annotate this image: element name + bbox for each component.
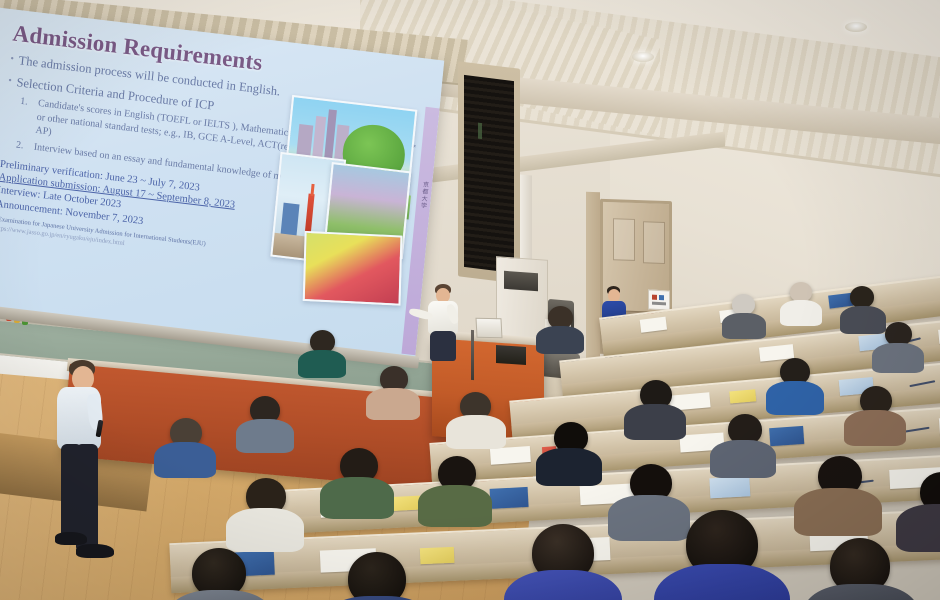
ac-vent-grille [504, 271, 538, 291]
photo-autumn-foliage [303, 231, 403, 306]
downlight-icon [845, 22, 867, 32]
ac-duct-pole [520, 174, 532, 265]
audience-body [154, 442, 216, 478]
audience-body [226, 508, 304, 552]
bullet-dot-icon: • [10, 51, 15, 67]
audience-head-foreground [348, 552, 406, 600]
notes [729, 389, 756, 403]
audience-body [896, 504, 940, 552]
audience-head [850, 286, 874, 308]
audience-body [366, 388, 420, 420]
audience-body [840, 306, 886, 334]
list-item-number: 1. [17, 95, 32, 137]
audience-seating [130, 352, 940, 600]
lecture-hall-scene: FIRE Admission Requirements • The admiss… [0, 0, 940, 600]
audience-body [624, 404, 686, 440]
screen-surface: Admission Requirements • The admission p… [0, 8, 444, 360]
notes [390, 496, 421, 512]
projection-screen: Admission Requirements • The admission p… [0, 0, 453, 384]
audience-body-foreground [804, 584, 918, 600]
shoe-right [76, 544, 114, 558]
audience-body [780, 300, 822, 326]
brochure [769, 426, 804, 446]
audience-body [446, 415, 506, 449]
audience-head [732, 294, 755, 315]
audience-body [608, 495, 690, 541]
door-panel-upper [613, 218, 635, 261]
downlight-icon [632, 52, 654, 62]
brochure [709, 476, 750, 498]
audience-body [236, 419, 294, 453]
brochure [490, 487, 529, 509]
handout [640, 317, 667, 333]
audience-body [418, 485, 492, 527]
audience-body [844, 410, 906, 446]
list-item-number: 2. [15, 138, 27, 153]
slide-photo-collage [267, 94, 418, 309]
slide-side-band-text: 京都大学 [418, 181, 430, 210]
laptop[interactable] [475, 318, 502, 339]
audience-body [766, 381, 824, 415]
shoe-left [55, 532, 87, 545]
audience-body [722, 313, 766, 339]
wall-notice-sign [648, 289, 670, 310]
audience-body [298, 350, 346, 378]
window-blinds [464, 75, 514, 273]
audience-body [872, 343, 924, 373]
pen [909, 380, 935, 387]
audience-body [536, 448, 602, 486]
bullet-dot-icon: • [7, 73, 12, 89]
audience-head [790, 282, 812, 302]
audience-body-foreground [322, 596, 434, 600]
audience-body [710, 440, 776, 478]
notes [420, 547, 455, 564]
door-panel-upper-right [643, 221, 665, 264]
slide-content: Admission Requirements • The admission p… [0, 8, 444, 360]
audience-body [794, 488, 882, 536]
presenter-with-microphone [52, 360, 132, 592]
audience-body [536, 326, 584, 354]
audience-body [320, 477, 394, 519]
